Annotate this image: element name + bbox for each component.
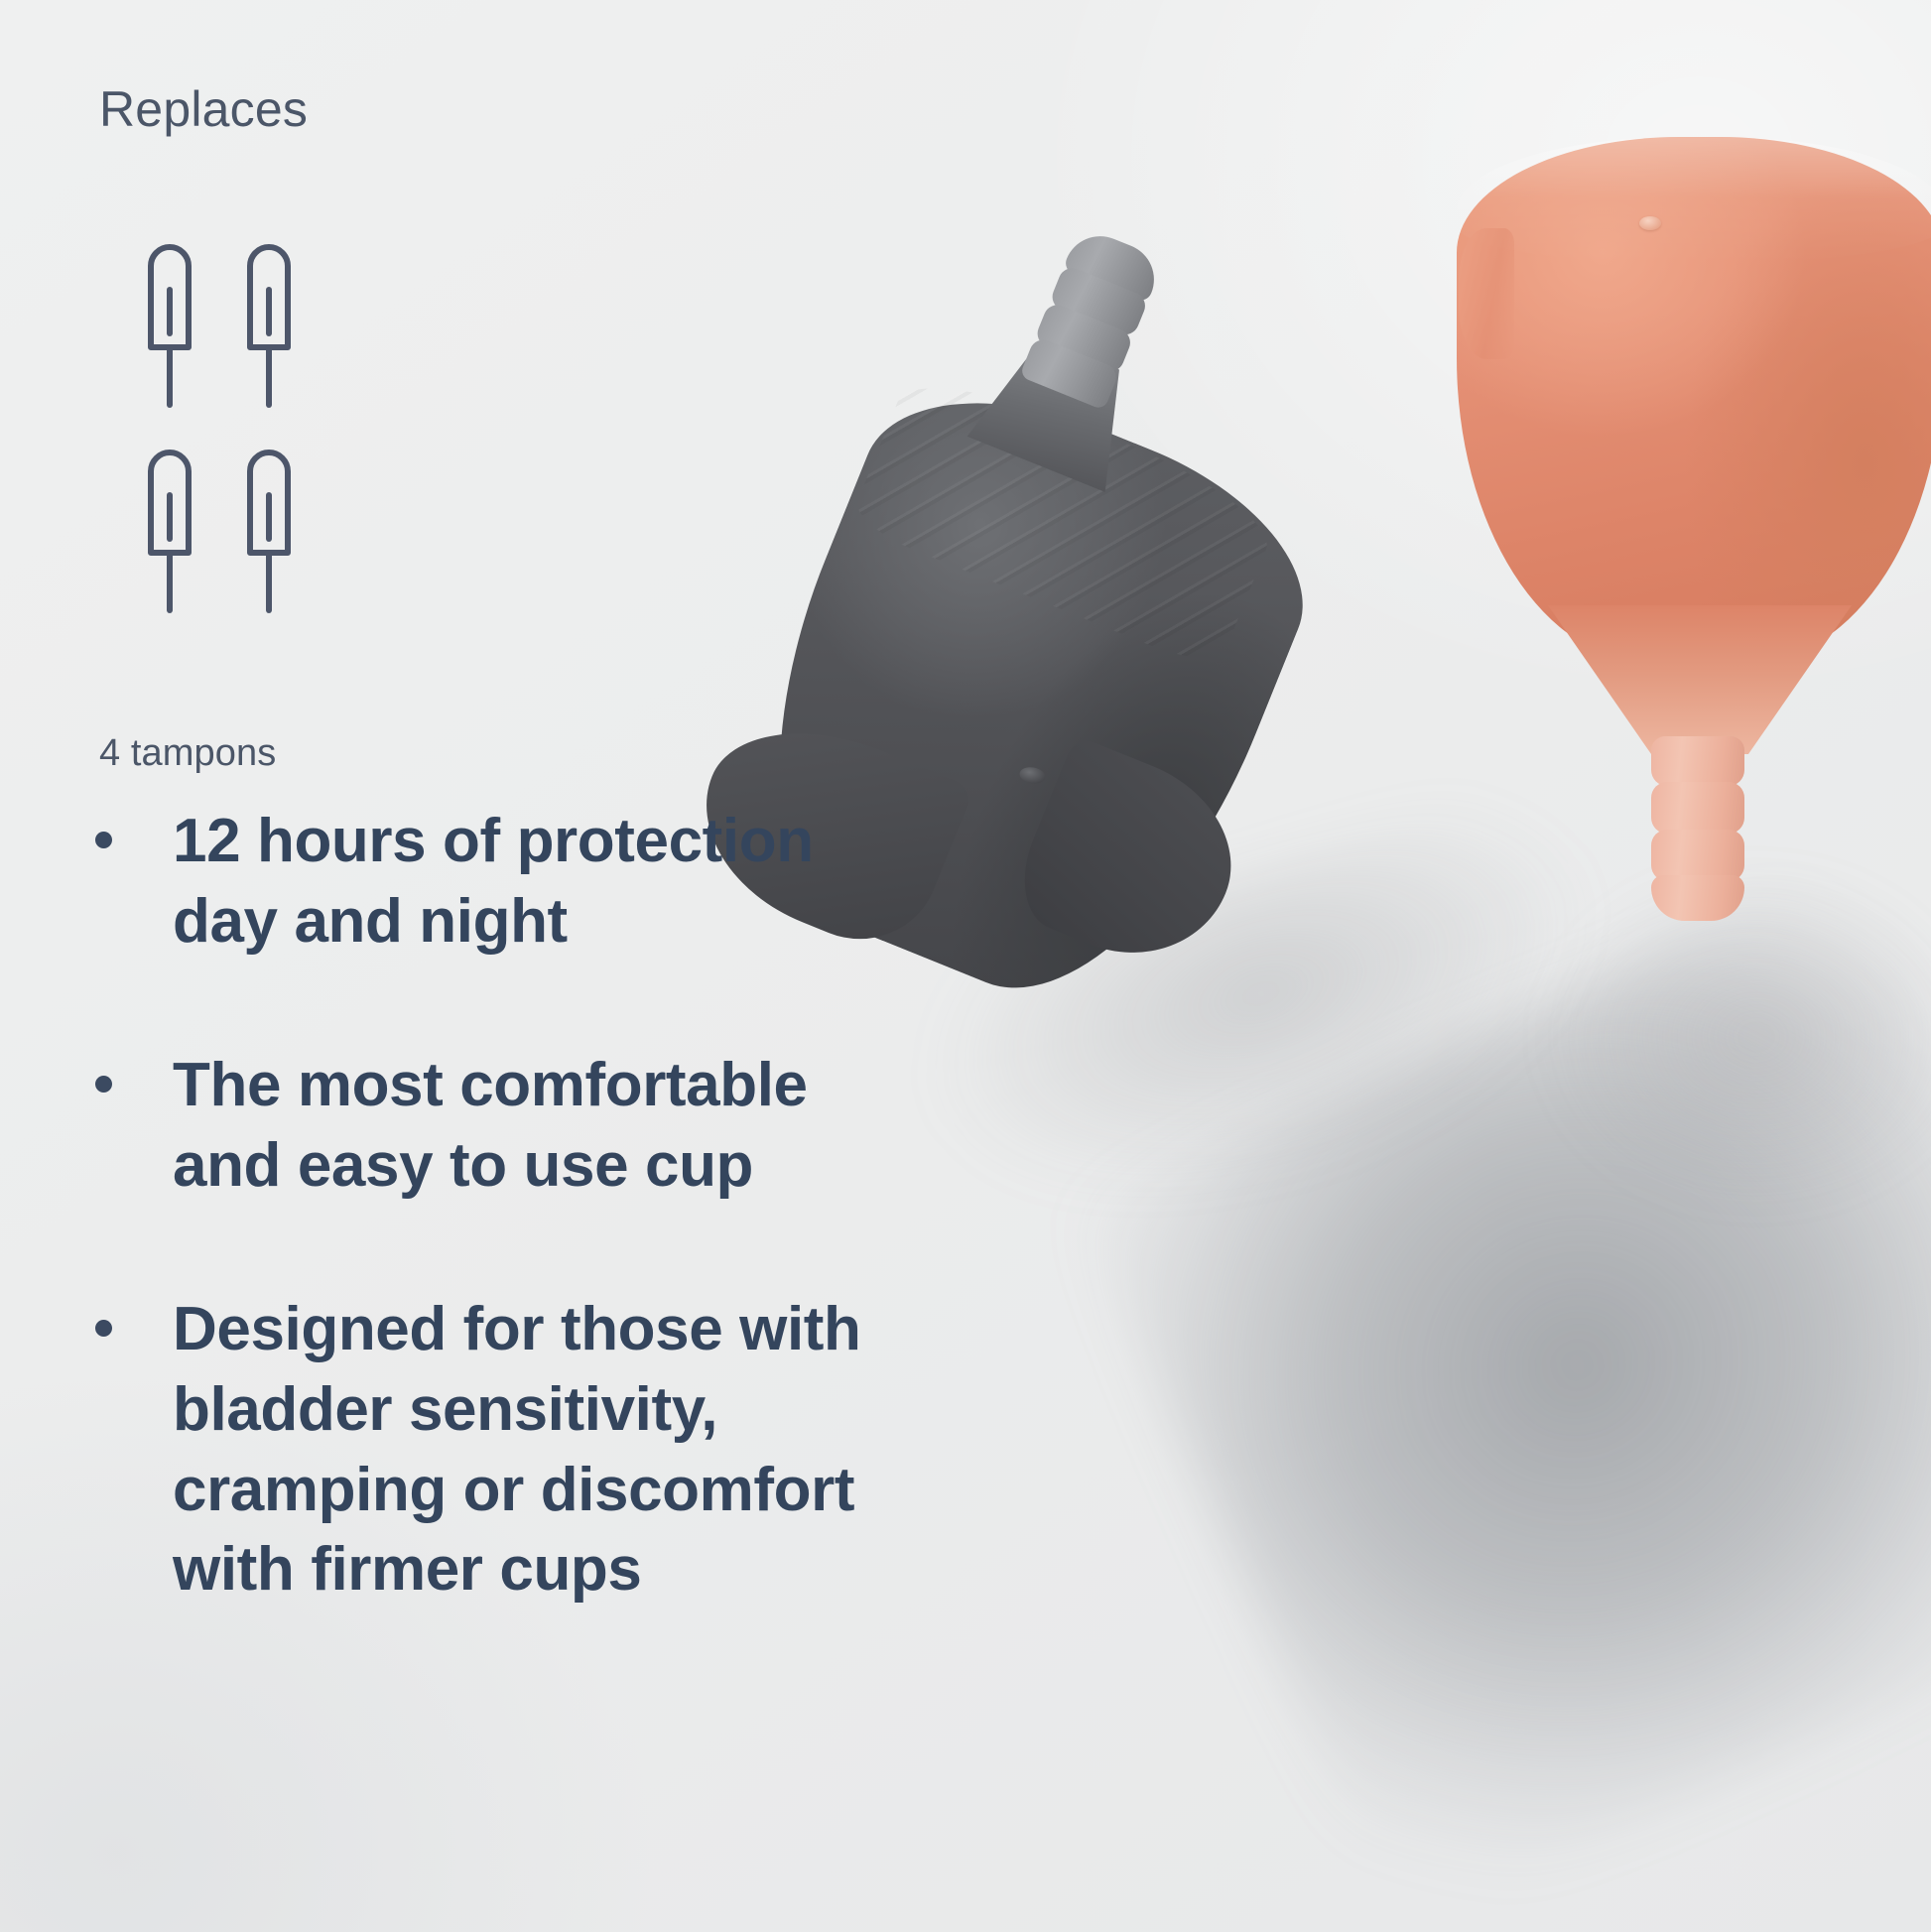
tampon-icon: [147, 446, 193, 614]
coral-menstrual-cup: [1457, 137, 1931, 901]
coral-cup-bowl: [1457, 137, 1931, 663]
gray-cup-grip-ridges: [848, 358, 1283, 673]
tampon-icon: [246, 240, 292, 409]
coral-stem-segment: [1651, 736, 1744, 786]
tampon-icon: [147, 240, 193, 409]
gray-stem-segment: [1019, 335, 1120, 410]
tampon-icon: [246, 446, 292, 614]
gray-stem-segment: [1063, 225, 1165, 304]
benefit-text: Designed for those with bladder sensitiv…: [173, 1290, 861, 1610]
gray-cup-stem: [1021, 225, 1165, 407]
gray-stem-segment: [1033, 301, 1134, 375]
coral-cup-grip-notch: [1459, 228, 1514, 359]
gray-cup-neck: [967, 326, 1150, 492]
benefit-text: 12 hours of protection day and night: [173, 802, 814, 962]
coral-cup-shadow: [1548, 873, 1931, 1201]
gray-cup-air-hole: [1018, 765, 1046, 785]
list-item: 12 hours of protection day and night: [95, 802, 1097, 962]
list-item: Designed for those with bladder sensitiv…: [95, 1290, 1097, 1610]
gray-stem-segment: [1048, 264, 1149, 338]
list-item: The most comfortable and easy to use cup: [95, 1046, 1097, 1206]
tampon-icon-row: [147, 240, 345, 409]
replaces-heading: Replaces: [99, 82, 308, 137]
cast-shadow: [1079, 862, 1931, 1925]
bullet-dot-icon: [95, 1320, 112, 1337]
bullet-dot-icon: [95, 1076, 112, 1093]
coral-cup-air-hole: [1639, 216, 1661, 230]
tampon-icon-row: [147, 446, 345, 614]
coral-cup-taper: [1548, 605, 1852, 754]
bullet-dot-icon: [95, 832, 112, 848]
tampons-count-label: 4 tampons: [99, 732, 276, 775]
coral-stem-segment: [1651, 875, 1744, 921]
coral-cup-rim: [1457, 137, 1931, 264]
product-infographic: Replaces: [0, 0, 1931, 1932]
benefits-list: 12 hours of protection day and night The…: [95, 802, 1097, 1610]
coral-stem-segment: [1651, 782, 1744, 834]
coral-stem-segment: [1651, 830, 1744, 881]
coral-cup-stem: [1651, 736, 1744, 905]
benefit-text: The most comfortable and easy to use cup: [173, 1046, 808, 1206]
tampon-icon-grid: [147, 240, 345, 614]
